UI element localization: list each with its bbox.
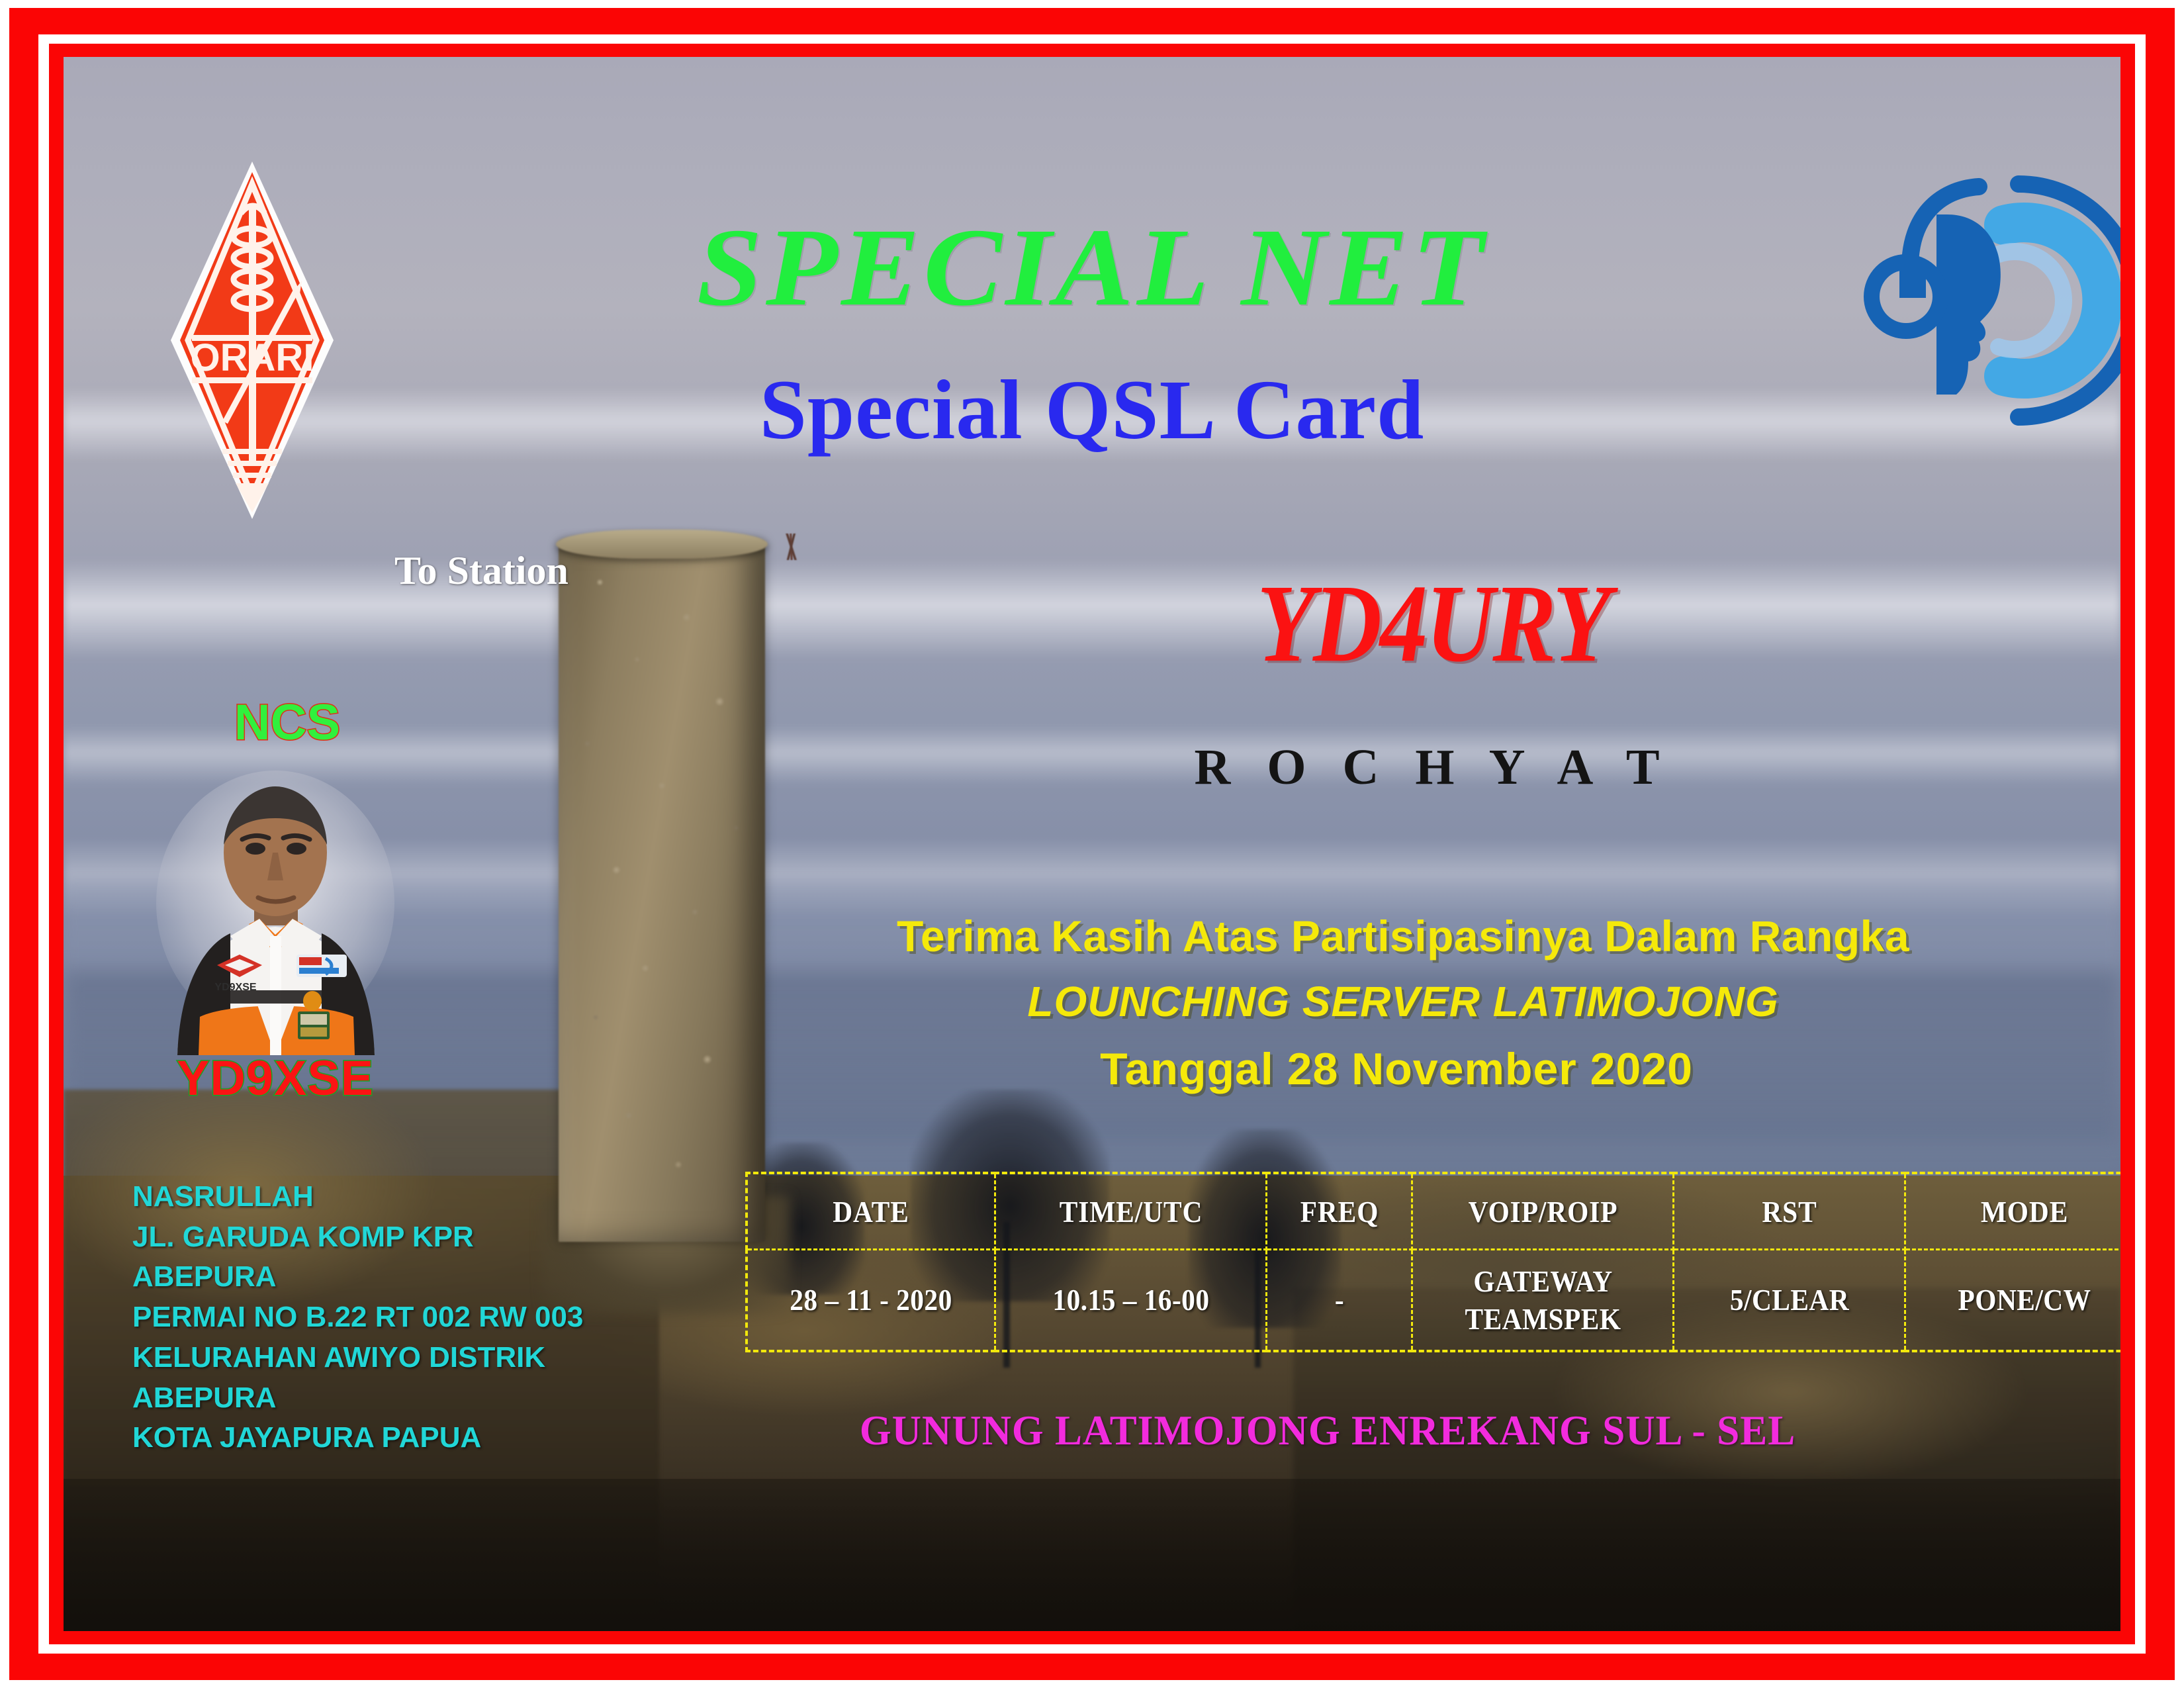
motto-text: "AMATIR RADIO ADALAH PROGRESIVE" [147, 1624, 968, 1631]
to-station-label: To Station [394, 548, 569, 594]
mailing-address: NASRULLAH JL. GARUDA KOMP KPR ABEPURA PE… [132, 1177, 583, 1458]
cell-time: 10.15 – 16-00 [1009, 1250, 1253, 1352]
column-header-voip: VOIP/ROIP [1425, 1173, 1661, 1250]
column-header-date: DATE [759, 1173, 983, 1250]
location-line: GUNUNG LATIMOJONG ENREKANG SUL - SEL [724, 1406, 1931, 1455]
station-callsign: YD4URY [970, 560, 1896, 688]
cell-date: 28 – 11 - 2020 [759, 1250, 983, 1352]
column-header-mode: MODE [1917, 1173, 2120, 1250]
cell-voip: GATEWAY TEAMSPEK [1425, 1250, 1661, 1352]
uniform-callsign-text: YD9XSE [214, 982, 256, 993]
ncs-operator-photo: YD9XSE [143, 771, 408, 1055]
cell-freq: - [1274, 1250, 1405, 1352]
cairn-body [559, 540, 765, 1242]
foreground-shadow [64, 1479, 2120, 1631]
twig-sprig [745, 534, 838, 560]
qso-details-table: DATE TIME/UTC FREQ VOIP/ROIP RST MODE 28… [745, 1172, 2120, 1352]
address-line: ABEPURA [132, 1257, 583, 1297]
address-line: KELURAHAN AWIYO DISTRIK [132, 1338, 583, 1378]
column-header-time: TIME/UTC [1009, 1173, 1253, 1250]
qsl-card: ORARI [0, 0, 2184, 1688]
ncs-label: NCS [201, 694, 373, 751]
operator-portrait: YD9XSE [143, 771, 408, 1055]
event-date: Tanggal 28 November 2020 [778, 1043, 2015, 1095]
column-header-rst: RST [1685, 1173, 1893, 1250]
table-row: 28 – 11 - 2020 10.15 – 16-00 - GATEWAY T… [747, 1250, 2120, 1352]
event-title: LOUNCHING SERVER LATIMOJONG [778, 977, 2028, 1026]
address-line: PERMAI NO B.22 RT 002 RW 003 [132, 1297, 583, 1338]
address-line: NASRULLAH [132, 1177, 583, 1217]
table-header-row: DATE TIME/UTC FREQ VOIP/ROIP RST MODE [747, 1173, 2120, 1250]
page-title-special-net: SPECIAL NET [64, 204, 2120, 332]
cell-voip-line2: TEAMSPEK [1465, 1302, 1621, 1336]
thanks-line: Terima Kasih Atas Partisipasinya Dalam R… [778, 911, 2028, 961]
page-subtitle-qsl-card: Special QSL Card [64, 361, 2120, 459]
column-header-freq: FREQ [1274, 1173, 1405, 1250]
cell-mode: PONE/CW [1917, 1250, 2120, 1352]
address-line: ABEPURA [132, 1378, 583, 1419]
cell-rst: 5/CLEAR [1685, 1250, 1893, 1352]
cairn-top [556, 530, 768, 559]
address-line: KOTA JAYAPURA PAPUA [132, 1418, 583, 1458]
website-address: Address : amatir.latimojong.com [1321, 1623, 1905, 1631]
ncs-callsign: YD9XSE [116, 1050, 434, 1106]
address-line: JL. GARUDA KOMP KPR [132, 1217, 583, 1258]
operator-name: R O C H Y A T [950, 739, 1915, 796]
cell-voip-line1: GATEWAY [1473, 1264, 1612, 1298]
background-photo: ORARI [64, 57, 2120, 1631]
